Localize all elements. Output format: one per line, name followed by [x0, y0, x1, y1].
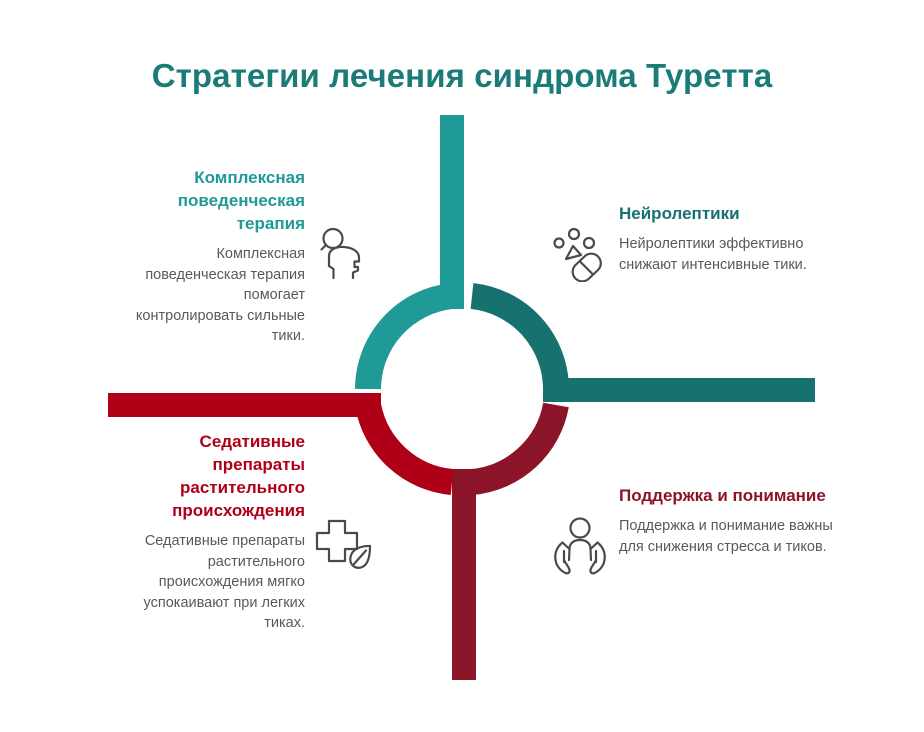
quadrant-behavioral: Комплексная поведенческая терапия Компле…: [133, 166, 305, 347]
quadrant-support-heading: Поддержка и понимание: [619, 484, 834, 507]
arc-support: [472, 405, 556, 482]
pills-icon: [551, 226, 609, 282]
arc-behavioral: [368, 296, 452, 389]
spoke-down: [452, 480, 476, 680]
spoke-right: [556, 378, 815, 402]
quadrant-neuroleptics: Нейролептики Нейролептики эффективно сни…: [619, 202, 819, 275]
quadrant-sedatives-body: Седативные препараты растительного проис…: [125, 531, 305, 634]
arc-sedatives: [368, 405, 452, 482]
arc-neuroleptics: [472, 296, 556, 389]
page-title: Стратегии лечения синдрома Туретта: [0, 56, 924, 96]
quadrant-neuroleptics-heading: Нейролептики: [619, 202, 819, 225]
spoke-up: [440, 115, 464, 295]
quadrant-support-body: Поддержка и понимание важны для снижения…: [619, 516, 834, 557]
supporting-hands-icon: [551, 516, 609, 578]
joint-up: [440, 283, 464, 309]
quadrant-support: Поддержка и понимание Поддержка и понима…: [619, 484, 834, 557]
quadrant-sedatives: Седативные препараты растительного проис…: [125, 430, 305, 634]
spoke-left: [108, 393, 360, 417]
joint-down: [452, 469, 476, 495]
cross-leaf-icon: [312, 516, 376, 574]
quadrant-sedatives-heading: Седативные препараты растительного проис…: [125, 430, 305, 522]
head-thought-icon: [314, 226, 366, 284]
joint-right: [543, 378, 569, 402]
quadrant-behavioral-body: Комплексная поведенческая терапия помога…: [133, 244, 305, 347]
quadrant-neuroleptics-body: Нейролептики эффективно снижают интенсив…: [619, 234, 819, 275]
infographic-canvas: Стратегии лечения синдрома Туретта Компл…: [0, 0, 924, 732]
joint-left: [355, 393, 381, 417]
quadrant-behavioral-heading: Комплексная поведенческая терапия: [133, 166, 305, 235]
